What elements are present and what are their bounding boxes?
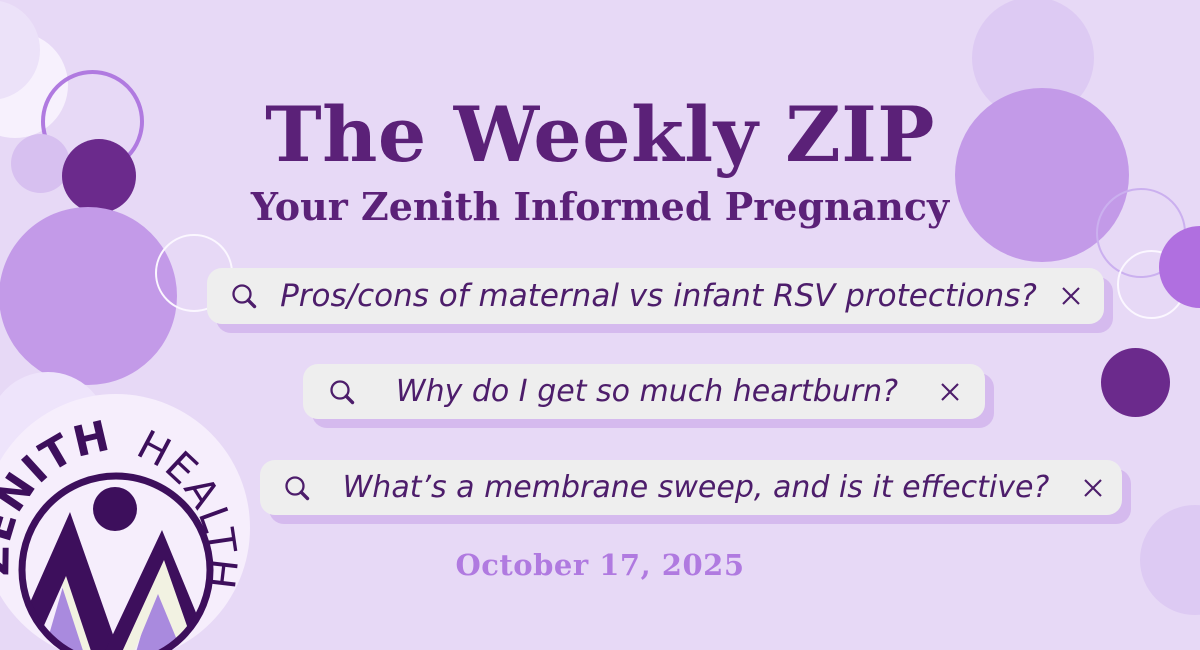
search-bar-1[interactable]: Pros/cons of maternal vs infant RSV prot… [207,268,1104,324]
search-icon[interactable] [282,473,312,503]
search-query-text[interactable]: Why do I get so much heartburn? [357,374,937,409]
logo-dot-icon [93,487,137,531]
close-icon[interactable] [1058,283,1084,309]
search-icon[interactable] [229,281,259,311]
search-icon[interactable] [327,377,357,407]
close-icon[interactable] [1080,475,1106,501]
page-subtitle: Your Zenith Informed Pregnancy [0,178,1200,230]
deco-circle-right-deep [1101,348,1170,417]
search-query-text[interactable]: Pros/cons of maternal vs infant RSV prot… [259,278,1058,314]
issue-date: October 17, 2025 [0,548,1200,582]
search-bar-2[interactable]: Why do I get so much heartburn? [303,364,985,419]
logo-graphic: ZENITH HEALTH [0,394,250,650]
deco-circle-left-large [0,207,177,385]
newsletter-banner: ZENITH HEALTH [0,0,1200,650]
banner-header: The Weekly ZIP Your Zenith Informed Preg… [0,92,1200,230]
search-bar-3[interactable]: What’s a membrane sweep, and is it effec… [260,460,1122,515]
page-title: The Weekly ZIP [0,92,1200,178]
zenith-health-logo[interactable]: ZENITH HEALTH [0,394,250,650]
close-icon[interactable] [937,379,963,405]
search-query-text[interactable]: What’s a membrane sweep, and is it effec… [312,470,1080,505]
